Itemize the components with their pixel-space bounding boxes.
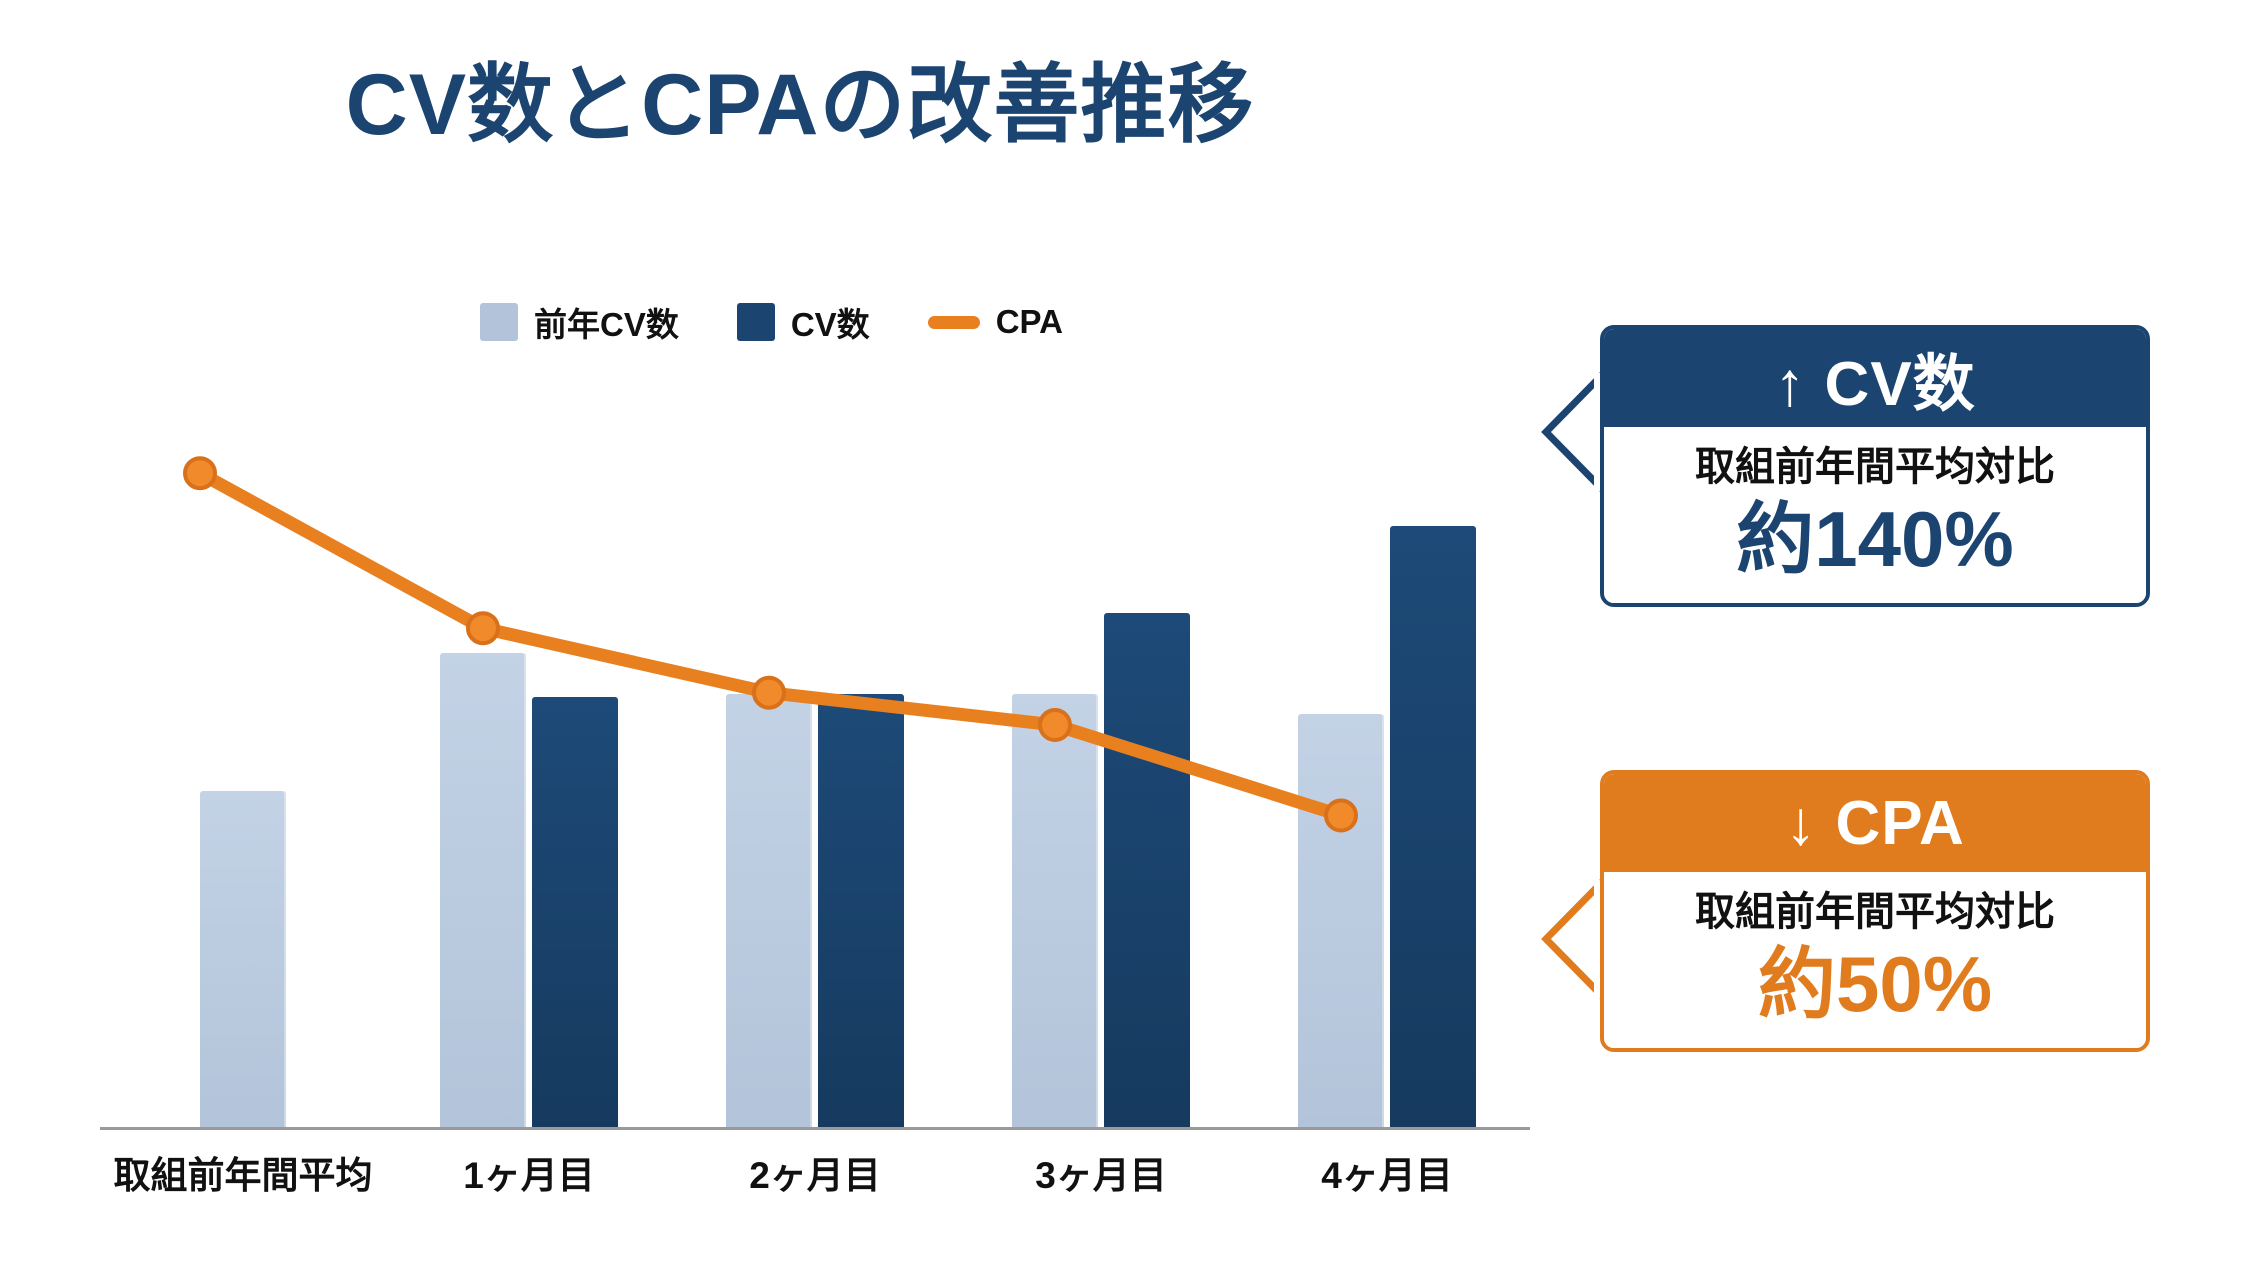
callout-cv: ↑ CV数 取組前年間平均対比 約140% (1600, 325, 2150, 607)
chart-plot-area (100, 330, 1530, 1130)
callout-cpa-subtitle: 取組前年間平均対比 (1604, 890, 2146, 934)
callout-cv-subtitle: 取組前年間平均対比 (1604, 445, 2146, 489)
cpa-line (200, 473, 1341, 815)
callout-cpa-header: ↓ CPA (1604, 774, 2146, 872)
line-swatch-icon (928, 316, 980, 329)
cpa-data-point (468, 613, 498, 643)
x-axis-label: 1ヶ月目 (463, 1145, 595, 1199)
x-axis-label: 3ヶ月目 (1035, 1145, 1167, 1199)
x-axis-label: 2ヶ月目 (749, 1145, 881, 1199)
cpa-data-point (185, 458, 215, 488)
callout-cv-body: 取組前年間平均対比 約140% (1604, 427, 2146, 603)
page-title: CV数とCPAの改善推移 (0, 62, 1600, 148)
callout-cpa: ↓ CPA 取組前年間平均対比 約50% (1600, 770, 2150, 1052)
callout-cpa-body: 取組前年間平均対比 約50% (1604, 872, 2146, 1048)
cpa-line-layer (100, 330, 1530, 1130)
x-axis-labels: 取組前年間平均1ヶ月目2ヶ月目3ヶ月目4ヶ月目 (100, 1145, 1530, 1205)
x-axis-line (100, 1127, 1530, 1130)
callout-cv-header: ↑ CV数 (1604, 329, 2146, 427)
x-axis-label: 4ヶ月目 (1321, 1145, 1453, 1199)
callout-tail-cv (1544, 373, 1604, 491)
callout-tail-cpa (1544, 880, 1604, 998)
x-axis-label: 取組前年間平均 (114, 1145, 373, 1199)
callout-cv-value: 約140% (1604, 499, 2146, 581)
cpa-data-point (1326, 801, 1356, 831)
callout-cv-box: ↑ CV数 取組前年間平均対比 約140% (1600, 325, 2150, 607)
callout-cpa-value: 約50% (1604, 944, 2146, 1026)
callout-cpa-box: ↓ CPA 取組前年間平均対比 約50% (1600, 770, 2150, 1052)
slide-canvas: CV数とCPAの改善推移 前年CV数 CV数 CPA 取組前年間平均1ヶ月目2ヶ… (0, 0, 2248, 1265)
cpa-data-point (1040, 710, 1070, 740)
cpa-data-point (754, 678, 784, 708)
